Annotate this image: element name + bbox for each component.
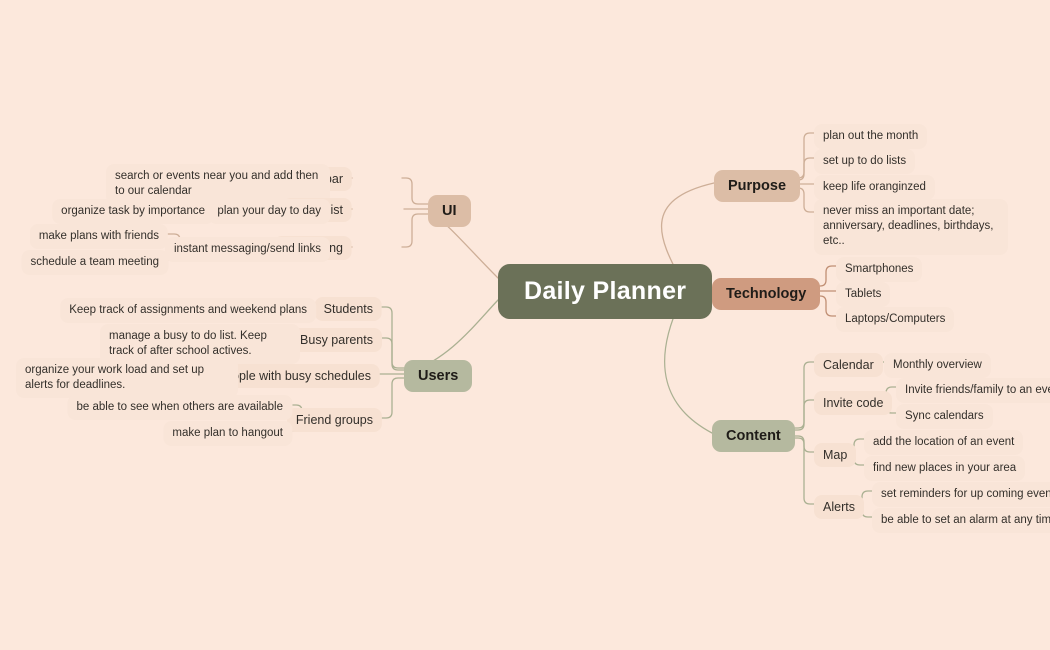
branch-node-content[interactable]: Content bbox=[712, 420, 795, 452]
mind-map-canvas: Daily Planner UI Search bar search or ev… bbox=[0, 0, 1050, 650]
leaf-node-laptops-computers[interactable]: Laptops/Computers bbox=[836, 307, 954, 332]
sub-node-map[interactable]: Map bbox=[814, 443, 856, 467]
central-node[interactable]: Daily Planner bbox=[498, 264, 712, 319]
leaf-node-sync-calendars[interactable]: Sync calendars bbox=[896, 404, 993, 429]
sub-node-students[interactable]: Students bbox=[315, 297, 382, 321]
branch-node-ui[interactable]: UI bbox=[428, 195, 471, 227]
leaf-node-schedule-team-meeting[interactable]: schedule a team meeting bbox=[22, 250, 169, 275]
sub-node-calendar[interactable]: Calendar bbox=[814, 353, 883, 377]
leaf-node-plan-day-to-day[interactable]: plan your day to day bbox=[208, 199, 330, 224]
leaf-node-keep-life-organized[interactable]: keep life oranginzed bbox=[814, 175, 935, 200]
leaf-node-setup-todo-lists[interactable]: set up to do lists bbox=[814, 149, 915, 174]
leaf-node-find-new-places[interactable]: find new places in your area bbox=[864, 456, 1025, 481]
leaf-node-plan-month[interactable]: plan out the month bbox=[814, 124, 927, 149]
branch-node-users[interactable]: Users bbox=[404, 360, 472, 392]
leaf-node-tablets[interactable]: Tablets bbox=[836, 282, 890, 307]
branch-node-technology[interactable]: Technology bbox=[712, 278, 820, 310]
sub-node-busy-parents[interactable]: Busy parents bbox=[291, 328, 382, 352]
leaf-node-see-others-available[interactable]: be able to see when others are available bbox=[67, 395, 292, 420]
leaf-node-invite-friends-family[interactable]: Invite friends/family to an event bbox=[896, 378, 1050, 403]
leaf-node-never-miss-date[interactable]: never miss an important date; anniversar… bbox=[814, 199, 1008, 255]
branch-node-purpose[interactable]: Purpose bbox=[714, 170, 800, 202]
leaf-node-organize-work-load[interactable]: organize your work load and set up alert… bbox=[16, 358, 238, 398]
sub-node-invite-code[interactable]: Invite code bbox=[814, 391, 892, 415]
leaf-node-set-reminders[interactable]: set reminders for up coming events bbox=[872, 482, 1050, 507]
leaf-node-assignments-weekend[interactable]: Keep track of assignments and weekend pl… bbox=[60, 298, 316, 323]
leaf-node-smartphones[interactable]: Smartphones bbox=[836, 257, 922, 282]
leaf-node-add-location-event[interactable]: add the location of an event bbox=[864, 430, 1023, 455]
leaf-node-monthly-overview[interactable]: Monthly overview bbox=[884, 353, 991, 378]
leaf-node-set-alarm-any-time[interactable]: be able to set an alarm at any time bbox=[872, 508, 1050, 533]
sub-node-alerts[interactable]: Alerts bbox=[814, 495, 864, 519]
leaf-node-make-plan-hangout[interactable]: make plan to hangout bbox=[163, 421, 292, 446]
leaf-node-organize-task[interactable]: organize task by importance bbox=[52, 199, 214, 224]
sub-node-friend-groups[interactable]: Friend groups bbox=[287, 408, 382, 432]
leaf-node-make-plans-friends[interactable]: make plans with friends bbox=[30, 224, 168, 249]
leaf-node-instant-messaging[interactable]: instant messaging/send links bbox=[165, 237, 330, 262]
